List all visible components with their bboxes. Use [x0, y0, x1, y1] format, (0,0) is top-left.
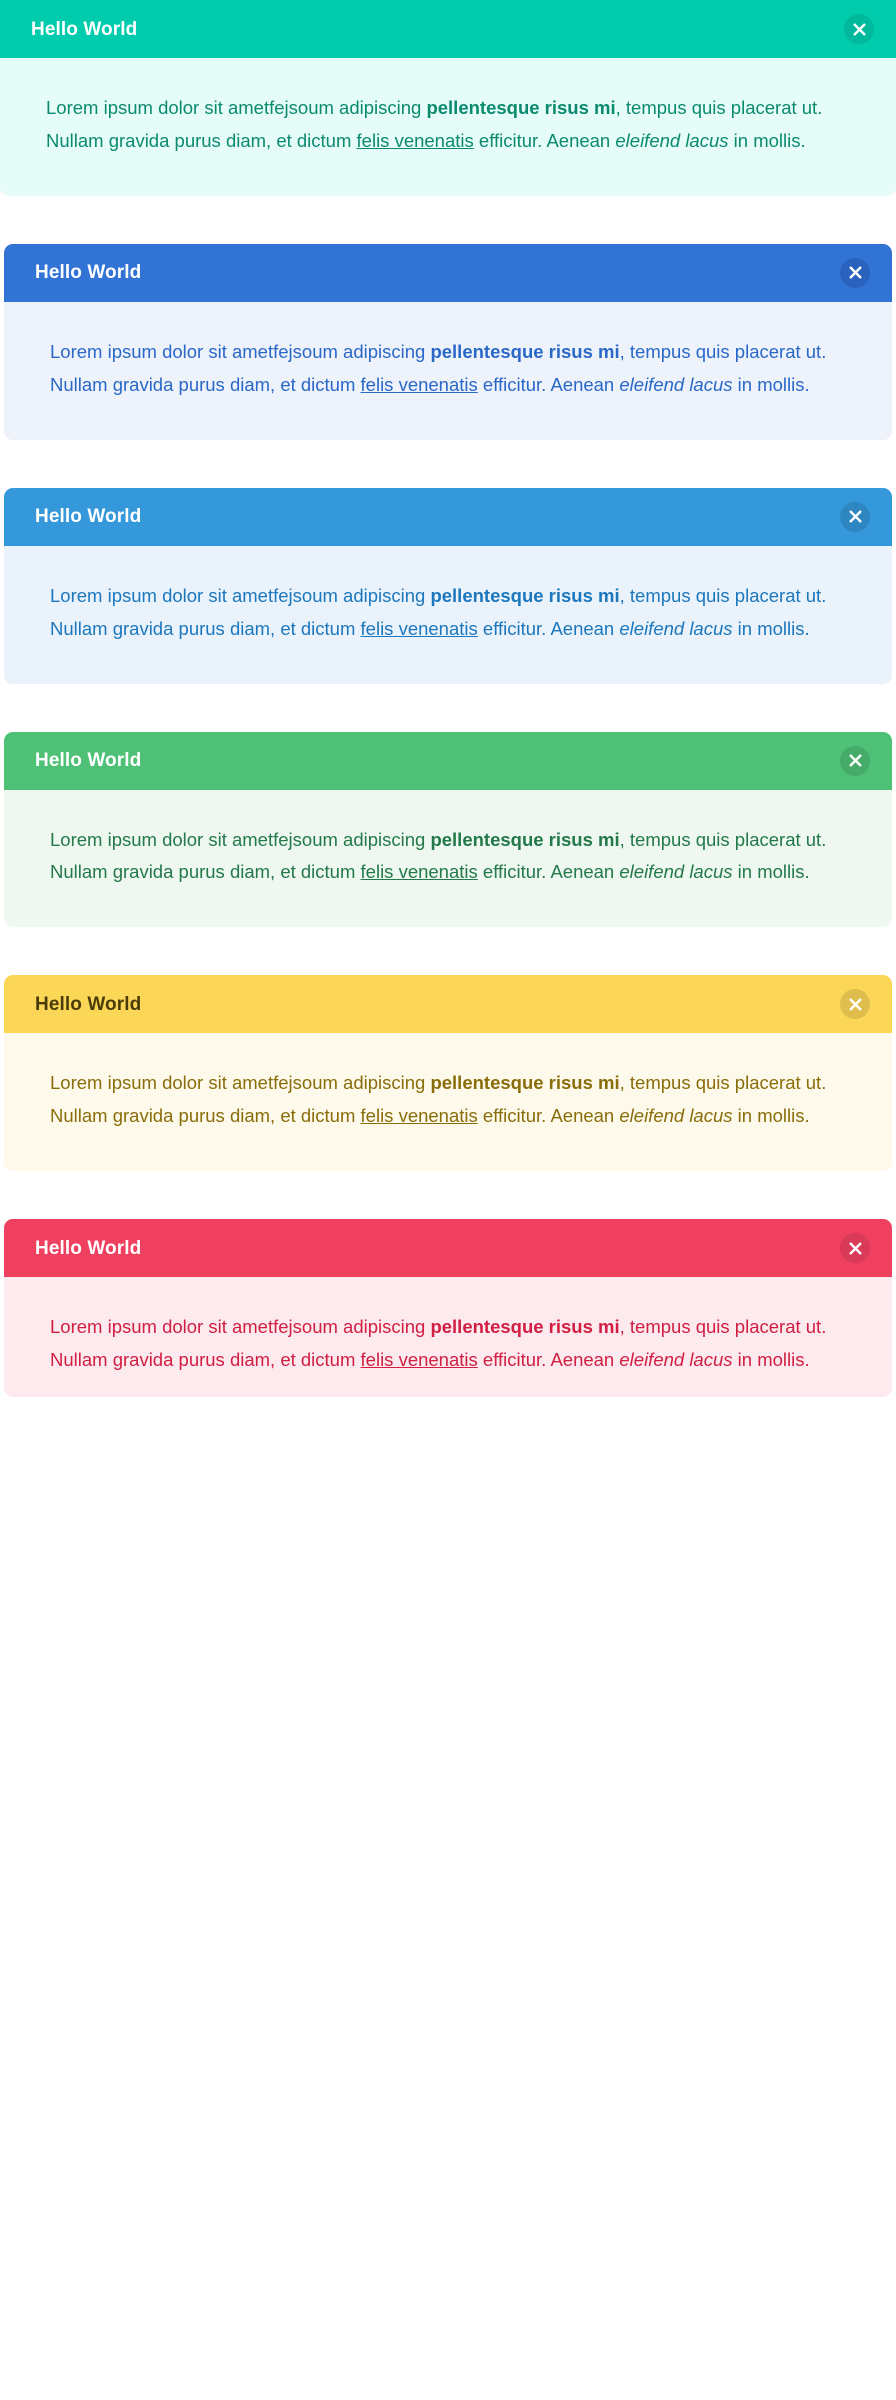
- body-text-plain-1: Lorem ipsum dolor sit ametfejsoum adipis…: [46, 97, 426, 118]
- felis-venenatis-link[interactable]: felis venenatis: [361, 374, 478, 395]
- alert-card-teal: Hello World Lorem ipsum dolor sit ametfe…: [0, 0, 896, 196]
- close-icon: [849, 998, 862, 1011]
- body-text-plain-1: Lorem ipsum dolor sit ametfejsoum adipis…: [50, 585, 430, 606]
- alert-title-success: Hello World: [35, 751, 141, 770]
- alert-header-teal: Hello World: [0, 0, 896, 58]
- alert-body-teal: Lorem ipsum dolor sit ametfejsoum adipis…: [0, 58, 896, 196]
- alert-title-danger: Hello World: [35, 1239, 141, 1258]
- alert-body-success: Lorem ipsum dolor sit ametfejsoum adipis…: [4, 790, 892, 928]
- body-text-plain-3: efficitur. Aenean: [478, 1349, 620, 1370]
- close-icon: [849, 510, 862, 523]
- alert-header-danger: Hello World: [4, 1219, 892, 1277]
- felis-venenatis-link[interactable]: felis venenatis: [357, 130, 474, 151]
- alert-card-warning: Hello World Lorem ipsum dolor sit ametfe…: [4, 975, 892, 1171]
- body-text-italic: eleifend lacus: [615, 130, 728, 151]
- body-text-plain-4: in mollis.: [733, 618, 810, 639]
- close-button-warning[interactable]: [840, 989, 870, 1019]
- close-icon: [849, 266, 862, 279]
- body-text-italic: eleifend lacus: [619, 1349, 732, 1370]
- alert-body-paragraph: Lorem ipsum dolor sit ametfejsoum adipis…: [50, 336, 846, 402]
- felis-venenatis-link[interactable]: felis venenatis: [361, 1349, 478, 1370]
- felis-venenatis-link[interactable]: felis venenatis: [361, 1105, 478, 1126]
- alert-body-paragraph: Lorem ipsum dolor sit ametfejsoum adipis…: [50, 1311, 846, 1377]
- alert-header-success: Hello World: [4, 732, 892, 790]
- alert-body-paragraph: Lorem ipsum dolor sit ametfejsoum adipis…: [50, 824, 846, 890]
- close-icon: [849, 1242, 862, 1255]
- felis-venenatis-link[interactable]: felis venenatis: [361, 861, 478, 882]
- body-text-plain-4: in mollis.: [733, 861, 810, 882]
- alert-title-warning: Hello World: [35, 995, 141, 1014]
- body-text-plain-4: in mollis.: [729, 130, 806, 151]
- close-button-teal[interactable]: [844, 14, 874, 44]
- alert-title-info: Hello World: [35, 507, 141, 526]
- alert-card-danger: Hello World Lorem ipsum dolor sit ametfe…: [4, 1219, 892, 1397]
- close-button-danger[interactable]: [840, 1233, 870, 1263]
- alert-card-primary: Hello World Lorem ipsum dolor sit ametfe…: [4, 244, 892, 440]
- body-text-plain-3: efficitur. Aenean: [478, 374, 620, 395]
- alert-body-paragraph: Lorem ipsum dolor sit ametfejsoum adipis…: [50, 1067, 846, 1133]
- alert-header-info: Hello World: [4, 488, 892, 546]
- alert-title-teal: Hello World: [31, 20, 137, 39]
- alert-header-primary: Hello World: [4, 244, 892, 302]
- alert-body-paragraph: Lorem ipsum dolor sit ametfejsoum adipis…: [46, 92, 850, 158]
- body-text-plain-4: in mollis.: [733, 1349, 810, 1370]
- alert-card-info: Hello World Lorem ipsum dolor sit ametfe…: [4, 488, 892, 684]
- body-text-plain-1: Lorem ipsum dolor sit ametfejsoum adipis…: [50, 341, 430, 362]
- alert-body-danger: Lorem ipsum dolor sit ametfejsoum adipis…: [4, 1277, 892, 1397]
- body-text-plain-4: in mollis.: [733, 374, 810, 395]
- body-text-bold: pellentesque risus mi: [430, 1316, 619, 1337]
- close-icon: [849, 754, 862, 767]
- body-text-plain-3: efficitur. Aenean: [478, 618, 620, 639]
- close-button-success[interactable]: [840, 746, 870, 776]
- body-text-italic: eleifend lacus: [619, 374, 732, 395]
- body-text-plain-3: efficitur. Aenean: [474, 130, 616, 151]
- close-button-primary[interactable]: [840, 258, 870, 288]
- body-text-bold: pellentesque risus mi: [426, 97, 615, 118]
- alert-body-primary: Lorem ipsum dolor sit ametfejsoum adipis…: [4, 302, 892, 440]
- alert-body-info: Lorem ipsum dolor sit ametfejsoum adipis…: [4, 546, 892, 684]
- body-text-italic: eleifend lacus: [619, 1105, 732, 1126]
- body-text-bold: pellentesque risus mi: [430, 341, 619, 362]
- body-text-plain-4: in mollis.: [733, 1105, 810, 1126]
- body-text-bold: pellentesque risus mi: [430, 829, 619, 850]
- alert-stack: Hello World Lorem ipsum dolor sit ametfe…: [0, 0, 896, 1397]
- close-button-info[interactable]: [840, 502, 870, 532]
- body-text-bold: pellentesque risus mi: [430, 1072, 619, 1093]
- body-text-plain-1: Lorem ipsum dolor sit ametfejsoum adipis…: [50, 829, 430, 850]
- body-text-plain-3: efficitur. Aenean: [478, 1105, 620, 1126]
- body-text-plain-3: efficitur. Aenean: [478, 861, 620, 882]
- body-text-plain-1: Lorem ipsum dolor sit ametfejsoum adipis…: [50, 1072, 430, 1093]
- body-text-bold: pellentesque risus mi: [430, 585, 619, 606]
- alert-body-warning: Lorem ipsum dolor sit ametfejsoum adipis…: [4, 1033, 892, 1171]
- close-icon: [853, 23, 866, 36]
- alert-card-success: Hello World Lorem ipsum dolor sit ametfe…: [4, 732, 892, 928]
- body-text-plain-1: Lorem ipsum dolor sit ametfejsoum adipis…: [50, 1316, 430, 1337]
- alert-body-paragraph: Lorem ipsum dolor sit ametfejsoum adipis…: [50, 580, 846, 646]
- felis-venenatis-link[interactable]: felis venenatis: [361, 618, 478, 639]
- body-text-italic: eleifend lacus: [619, 861, 732, 882]
- body-text-italic: eleifend lacus: [619, 618, 732, 639]
- alert-title-primary: Hello World: [35, 263, 141, 282]
- alert-header-warning: Hello World: [4, 975, 892, 1033]
